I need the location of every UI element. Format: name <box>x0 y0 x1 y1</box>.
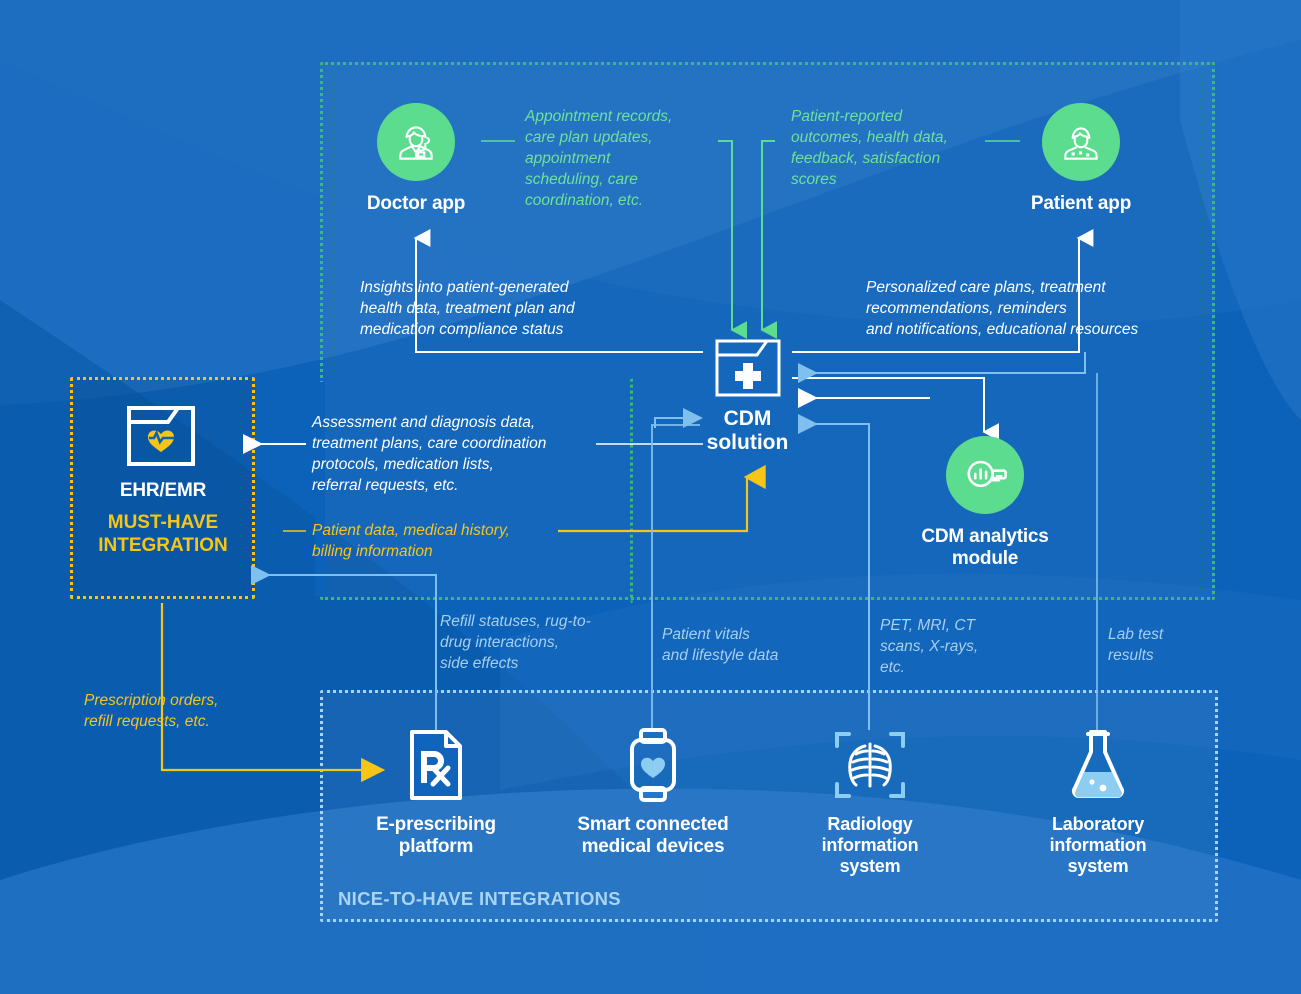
doctor-icon <box>377 103 455 181</box>
must-have-badge: MUST-HAVE INTEGRATION <box>82 512 244 558</box>
caption-cdm-to-patient: Personalized care plans, treatment recom… <box>866 278 1196 341</box>
smartwatch-heart-icon <box>623 728 683 802</box>
caption-cdm-to-doctor: Insights into patient-generated health d… <box>360 278 650 341</box>
caption-cdm-to-ehr: Assessment and diagnosis data, treatment… <box>312 413 612 497</box>
node-laboratory-label: Laboratory information system <box>1018 814 1178 878</box>
diagram-canvas: Doctor app Patient app CDM solution <box>0 0 1301 994</box>
patient-icon <box>1042 103 1120 181</box>
node-radiology[interactable]: Radiology information system <box>790 728 950 878</box>
xray-lungs-icon <box>831 728 909 802</box>
nice-to-have-title: NICE-TO-HAVE INTEGRATIONS <box>338 888 621 910</box>
node-eprescribing-label: E-prescribing platform <box>366 814 506 859</box>
rx-document-icon <box>406 728 466 802</box>
node-laboratory[interactable]: Laboratory information system <box>1018 728 1178 878</box>
analytics-magnifier-icon <box>946 436 1024 514</box>
node-doctor-app[interactable]: Doctor app <box>356 103 476 215</box>
caption-ehr-to-eprescribing: Prescription orders, refill requests, et… <box>84 691 299 733</box>
node-ehr-emr[interactable]: EHR/EMR MUST-HAVE INTEGRATION <box>82 400 244 558</box>
medical-folder-icon <box>713 337 783 399</box>
node-smart-devices[interactable]: Smart connected medical devices <box>562 728 744 859</box>
node-smart-devices-label: Smart connected medical devices <box>562 814 744 859</box>
caption-ehr-to-cdm: Patient data, medical history, billing i… <box>312 521 572 563</box>
caption-devices-to-cdm: Patient vitals and lifestyle data <box>662 625 832 667</box>
node-cdm-solution[interactable]: CDM solution <box>690 337 805 455</box>
node-cdm-analytics-label: CDM analytics module <box>905 526 1065 571</box>
caption-patient-to-cdm: Patient-reported outcomes, health data, … <box>791 107 1006 191</box>
caption-eprescribing-to-cdm: Refill statuses, rug-to- drug interactio… <box>440 612 620 675</box>
node-ehr-emr-label: EHR/EMR <box>82 480 244 502</box>
caption-lab-to-cdm: Lab test results <box>1108 625 1218 667</box>
node-radiology-label: Radiology information system <box>790 814 950 878</box>
node-doctor-app-label: Doctor app <box>356 193 476 215</box>
node-cdm-solution-label: CDM solution <box>690 407 805 455</box>
lab-flask-icon <box>1067 728 1129 802</box>
heart-folder-icon <box>124 400 202 468</box>
node-eprescribing[interactable]: E-prescribing platform <box>366 728 506 859</box>
caption-radiology-to-cdm: PET, MRI, CT scans, X-rays, etc. <box>880 616 1000 679</box>
node-cdm-analytics[interactable]: CDM analytics module <box>905 436 1065 571</box>
caption-doctor-to-cdm: Appointment records, care plan updates, … <box>525 107 720 212</box>
node-patient-app-label: Patient app <box>1021 193 1141 215</box>
node-patient-app[interactable]: Patient app <box>1021 103 1141 215</box>
